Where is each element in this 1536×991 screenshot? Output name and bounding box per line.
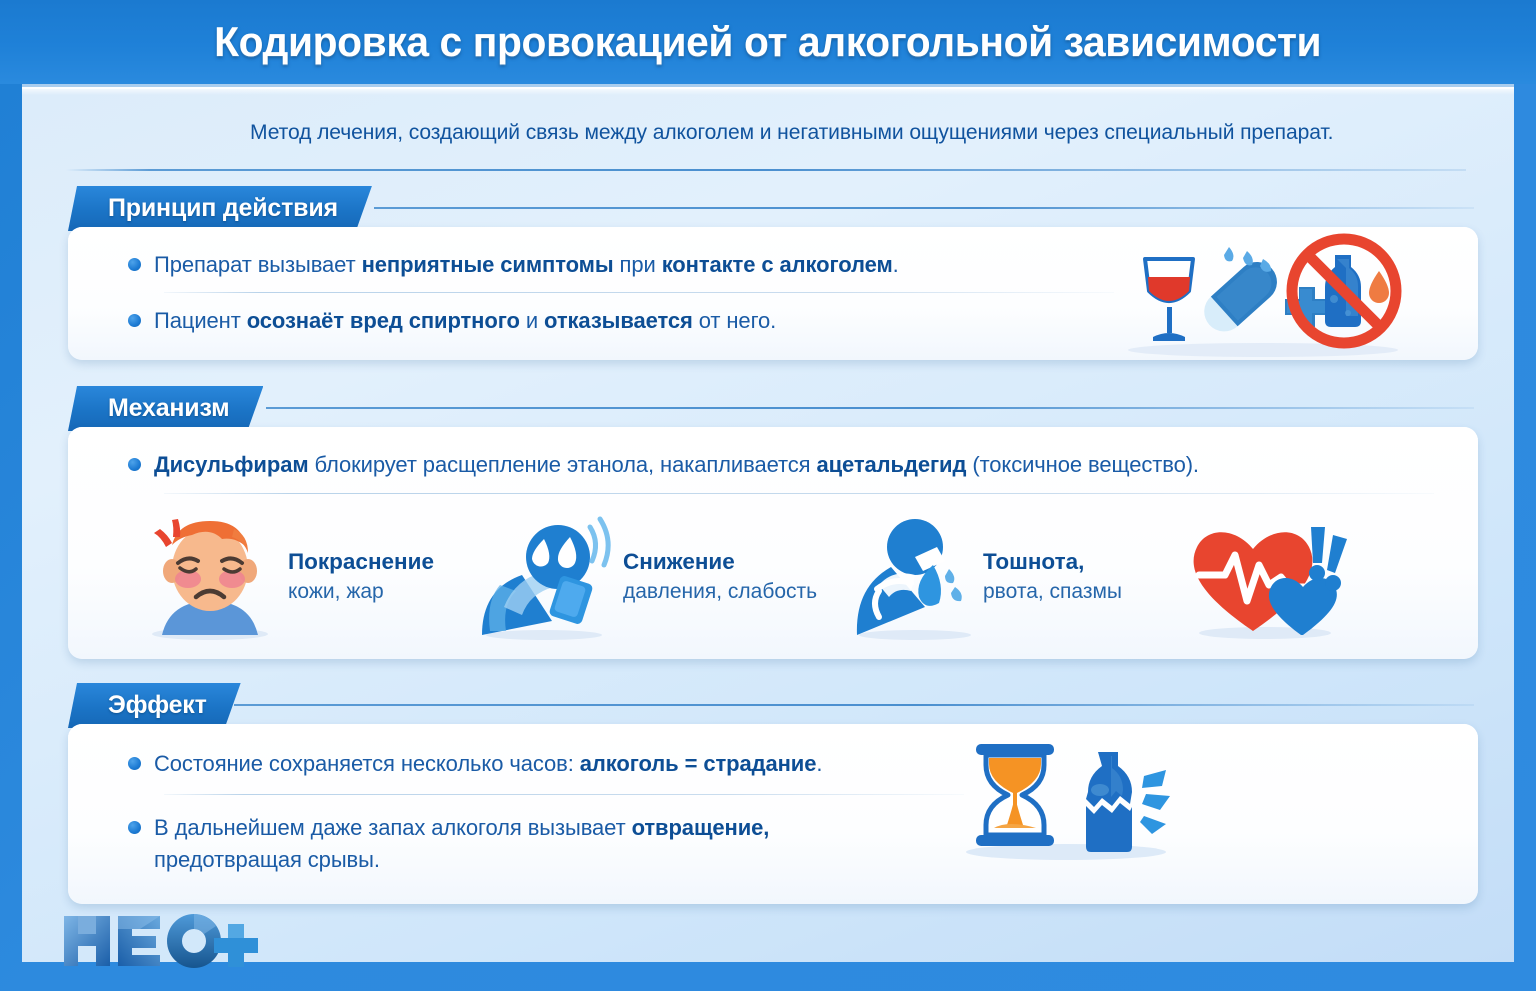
section3-icon-group: [948, 732, 1188, 862]
symptom-item-flushed-skin: Покраснение кожи, жар: [138, 513, 478, 641]
bullet-row: Дисульфирам блокирует расщепление этанол…: [128, 449, 1199, 481]
page-title: Кодировка с провокацией от алкогольной з…: [214, 18, 1321, 66]
section1-card: Препарат вызывает неприятные симптомы пр…: [68, 227, 1478, 360]
symptom-label: Снижение давления, слабость: [623, 547, 817, 607]
vomiting-person-icon: [853, 513, 973, 641]
heat-lines-icon: [154, 519, 180, 547]
symptom-row: Покраснение кожи, жар: [138, 509, 1428, 644]
intro-text: Метод лечения, создающий связь между алк…: [140, 120, 1443, 145]
bullet-text: Пациент осознаёт вред спиртного и отказы…: [154, 305, 776, 337]
symptom-label: Покраснение кожи, жар: [288, 547, 434, 607]
section-mehanizm: Механизм Дисульфирам блокирует расщеплен…: [44, 386, 1494, 659]
content-panel: Метод лечения, создающий связь между алк…: [22, 84, 1514, 962]
bullet-text: Дисульфирам блокирует расщепление этанол…: [154, 449, 1199, 481]
section2-tab-rule: [266, 407, 1474, 409]
broken-bottle-icon: [1086, 752, 1132, 852]
hourglass-icon: [976, 744, 1054, 846]
neo-plus-logo[interactable]: [62, 912, 262, 970]
infographic-poster: Кодировка с провокацией от алкогольной з…: [0, 0, 1536, 991]
section3-card: Состояние сохраняется несколько часов: а…: [68, 724, 1478, 904]
bullet-dot-icon: [128, 821, 141, 834]
mechanism-separator: [164, 493, 1434, 494]
break-burst-icon: [1140, 770, 1170, 834]
bullet-dot-icon: [128, 258, 141, 271]
flushed-face-icon: [138, 513, 278, 641]
wine-glass-icon: [1145, 259, 1193, 341]
bullet-row: Пациент осознаёт вред спиртного и отказы…: [128, 305, 776, 337]
symptom-item-nausea: Тошнота, рвота, спазмы: [853, 513, 1183, 641]
heartbeat-icon: [1183, 513, 1353, 641]
symptom-label: Тошнота, рвота, спазмы: [983, 547, 1122, 607]
bullet-separator: [164, 794, 964, 795]
bullet-row: Препарат вызывает неприятные симптомы пр…: [128, 249, 899, 281]
bullet-dot-icon: [128, 757, 141, 770]
section2-tab-label: Механизм: [68, 386, 263, 431]
dizzy-waves-icon: [590, 519, 608, 565]
panel-top-highlight: [22, 87, 1514, 95]
symptom-item-heart: [1183, 513, 1383, 641]
section2-card: Дисульфирам блокирует расщепление этанол…: [68, 427, 1478, 659]
section3-tab-rule: [234, 704, 1474, 706]
bullet-row: В дальнейшем даже запах алкоголя вызывае…: [128, 812, 894, 876]
bullet-separator: [164, 292, 1114, 293]
splash-icon: [945, 569, 962, 601]
bullet-row: Состояние сохраняется несколько часов: а…: [128, 748, 822, 780]
bullet-text: Состояние сохраняется несколько часов: а…: [154, 748, 822, 780]
intro-divider: [66, 169, 1466, 171]
section-printsip-deystviya: Принцип действия Препарат вызывает непри…: [44, 186, 1494, 360]
section3-tab-label: Эффект: [68, 683, 241, 728]
dizzy-person-icon: [478, 513, 613, 641]
section1-tab-label: Принцип действия: [68, 186, 372, 231]
alcohol-plus-pill-prohibition-icon: [1113, 229, 1403, 359]
bullet-dot-icon: [128, 314, 141, 327]
bullet-dot-icon: [128, 458, 141, 471]
bullet-text: В дальнейшем даже запах алкоголя вызывае…: [154, 812, 894, 876]
bullet-text: Препарат вызывает неприятные симптомы пр…: [154, 249, 899, 281]
pill-capsule-icon: [1196, 254, 1285, 340]
section1-tab-rule: [374, 207, 1474, 209]
section-effekt: Эффект Состояние сохраняется несколько ч…: [44, 683, 1494, 904]
section1-icon-group: [1113, 229, 1403, 359]
hourglass-broken-bottle-icon: [948, 732, 1188, 862]
title-bar: Кодировка с провокацией от алкогольной з…: [0, 0, 1536, 84]
symptom-item-low-pressure: Снижение давления, слабость: [478, 513, 853, 641]
neo-plus-logo-mark: [62, 912, 262, 970]
